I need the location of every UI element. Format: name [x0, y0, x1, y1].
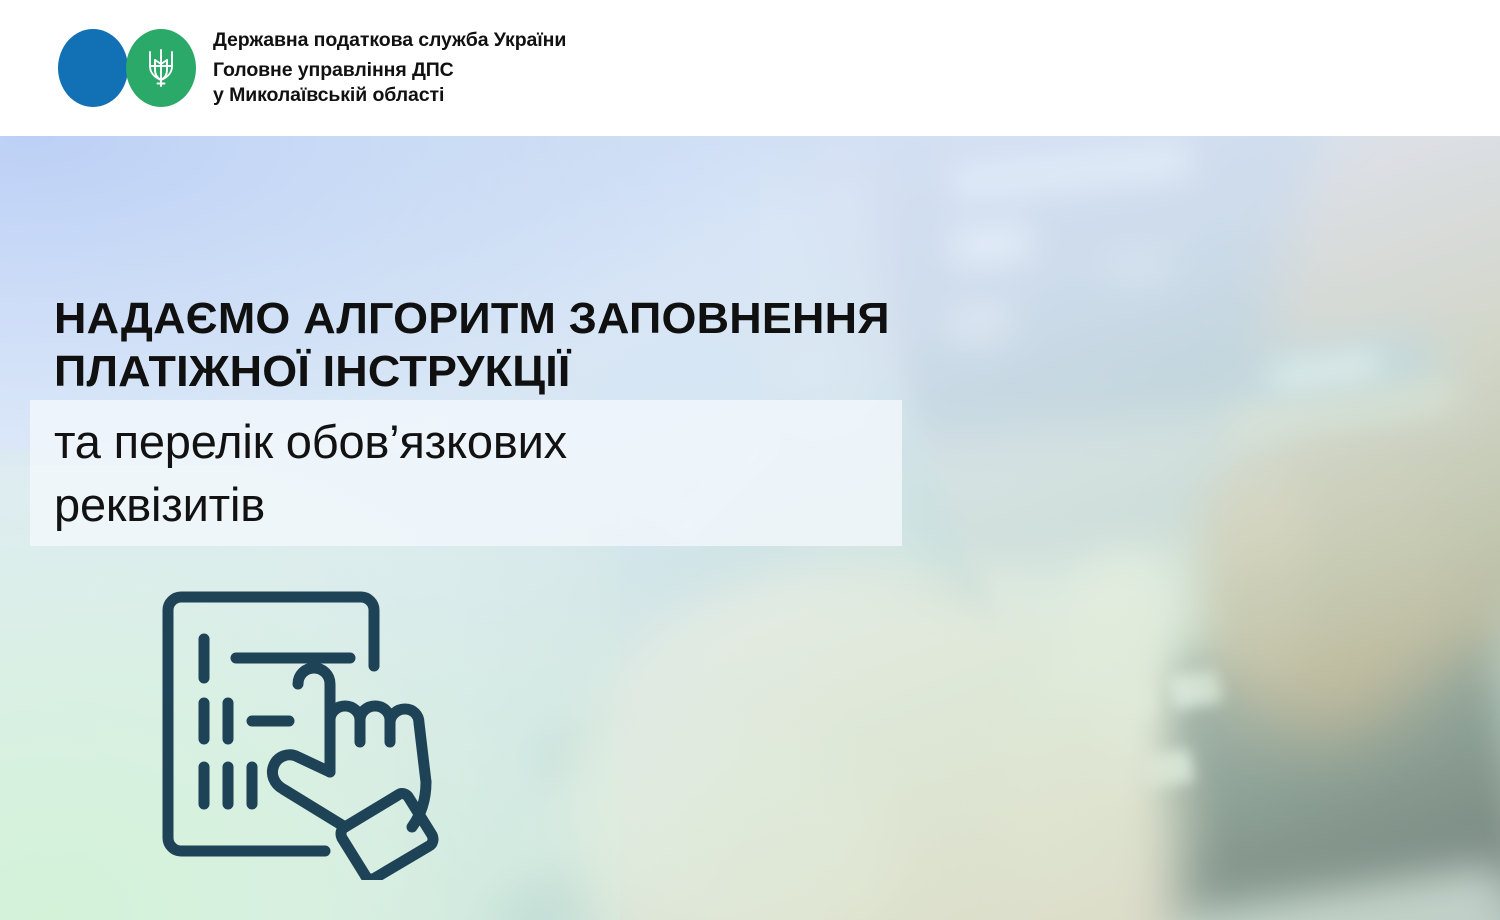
org-name-line: Державна податкова служба України	[213, 31, 566, 51]
headline-line-2: ПЛАТІЖНОЇ ІНСТРУКЦІЇ	[54, 345, 952, 398]
form-with-pointing-hand-icon	[158, 586, 448, 880]
banner-root: Державна податкова служба України Головн…	[0, 0, 1500, 920]
org-title-block: Державна податкова служба України Головн…	[213, 31, 566, 106]
headline-line-1: НАДАЄМО АЛГОРИТМ ЗАПОВНЕННЯ	[54, 292, 952, 345]
org-region-line: у Миколаївській області	[213, 86, 566, 106]
dps-logo[interactable]	[58, 29, 203, 107]
subtitle-line-1: та перелік обов’язкових	[54, 410, 934, 473]
subtitle-line-2: реквізитів	[54, 473, 934, 536]
tryzub-trident-icon	[144, 46, 178, 90]
org-department-line: Головне управління ДПС	[213, 61, 566, 81]
site-header: Державна податкова служба України Головн…	[0, 0, 1500, 136]
hero-subtitle: та перелік обов’язкових реквізитів	[54, 410, 934, 536]
hero-headline: НАДАЄМО АЛГОРИТМ ЗАПОВНЕННЯ ПЛАТІЖНОЇ ІН…	[54, 292, 952, 398]
logo-blue-circle-icon	[58, 29, 128, 107]
